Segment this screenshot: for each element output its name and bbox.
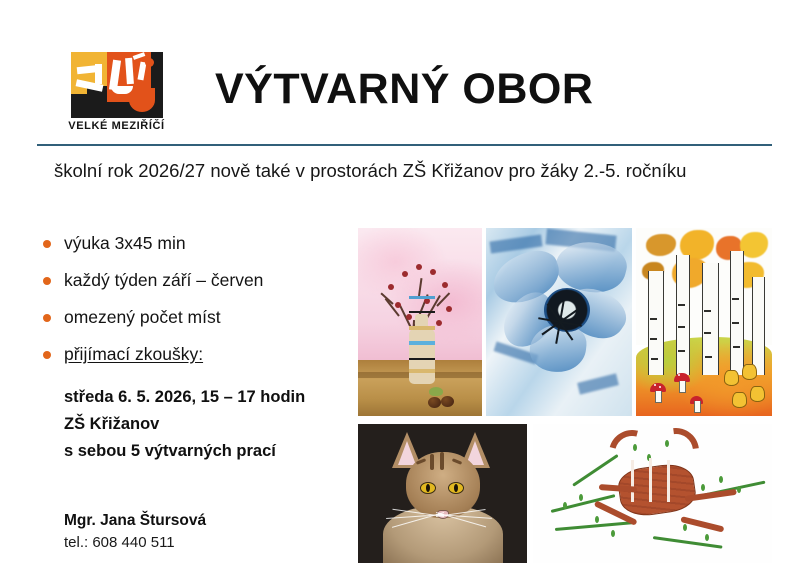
list-item: výuka 3x45 min: [38, 232, 348, 254]
logo-caption: VELKÉ MEZIŘÍČÍ: [63, 120, 170, 132]
contact-name: Mgr. Jana Štursová: [64, 510, 364, 532]
bullet-dot-icon: [43, 314, 51, 322]
exam-detail-requirements: s sebou 5 výtvarných prací: [64, 438, 364, 465]
exam-detail-place: ZŠ Křižanov: [64, 411, 364, 438]
artwork-gallery: [358, 228, 772, 563]
exam-details: středa 6. 5. 2026, 15 – 17 hodin ZŠ Křiž…: [64, 384, 364, 465]
artwork-cat-portrait: [358, 424, 527, 563]
bullet-dot-icon: [43, 351, 51, 359]
exam-detail-date: středa 6. 5. 2026, 15 – 17 hodin: [64, 384, 364, 411]
bullet-dot-icon: [43, 240, 51, 248]
artwork-birch-forest-mushrooms: [636, 228, 772, 416]
page-subtitle: školní rok 2026/27 nově také v prostorác…: [54, 160, 686, 182]
list-item: omezený počet míst: [38, 306, 348, 328]
artwork-vase-with-rosehip-branches: [358, 228, 482, 416]
poster-header: VELKÉ MEZIŘÍČÍ VÝTVARNÝ OBOR školní rok …: [0, 0, 800, 146]
artwork-blue-flower: [486, 228, 632, 416]
header-divider: [37, 144, 772, 146]
page-title: VÝTVARNÝ OBOR: [215, 65, 593, 114]
list-item-label: omezený počet míst: [64, 307, 221, 327]
contact-phone: tel.: 608 440 511: [64, 532, 364, 554]
zus-velke-mezirici-logo: VELKÉ MEZIŘÍČÍ: [63, 52, 170, 139]
info-bullet-list: výuka 3x45 min každý týden září – červen…: [38, 232, 348, 380]
list-item: přijímací zkoušky:: [38, 343, 348, 365]
list-item-label: výuka 3x45 min: [64, 233, 186, 253]
artwork-stag-beetle: [533, 424, 772, 563]
logo-mark-icon: [71, 52, 163, 118]
list-item: každý týden září – červen: [38, 269, 348, 291]
list-item-label: každý týden září – červen: [64, 270, 263, 290]
bullet-dot-icon: [43, 277, 51, 285]
list-item-label: přijímací zkoušky:: [64, 344, 203, 364]
contact-block: Mgr. Jana Štursová tel.: 608 440 511: [64, 510, 364, 554]
